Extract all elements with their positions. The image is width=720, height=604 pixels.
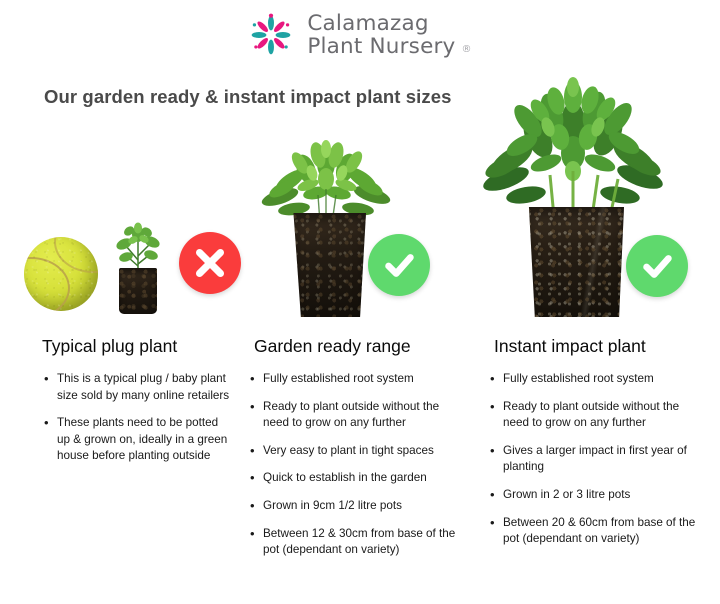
column-title-typical-plug-plant: Typical plug plant [42,336,177,357]
cross-badge-icon [179,232,241,294]
list-item: Ready to plant outside without the need … [490,399,708,432]
list-item: Fully established root system [250,371,464,388]
column-title-instant-impact-plant: Instant impact plant [494,336,646,357]
list-item: Very easy to plant in tight spaces [250,443,464,460]
check-badge-icon [626,235,688,297]
infographic-page: Calamazag Plant Nursery ® Our garden rea… [0,0,720,604]
artwork-typical-plug-plant [14,115,236,317]
feature-list-garden-ready-range: Fully established root system Ready to p… [250,371,464,570]
list-item: Between 12 & 30cm from base of the pot (… [250,526,464,559]
brand-name-line2: Plant Nursery [307,35,455,58]
brand-name-line1: Calamazag [307,12,471,35]
column-typical-plug-plant: Typical plug plant This is a typical plu… [14,115,236,317]
list-item: Between 20 & 60cm from base of the pot (… [490,515,708,548]
feature-list-typical-plug-plant: This is a typical plug / baby plant size… [44,371,234,476]
instant-impact-root-ball [526,207,624,317]
brand-logo: Calamazag Plant Nursery ® [0,12,720,58]
list-item: Ready to plant outside without the need … [250,399,464,432]
column-title-garden-ready-range: Garden ready range [254,336,411,357]
feature-list-instant-impact-plant: Fully established root system Ready to p… [490,371,708,559]
plug-plant-image [109,220,167,314]
list-item: This is a typical plug / baby plant size… [44,371,234,404]
registered-trademark-icon: ® [461,45,471,56]
list-item: Quick to establish in the garden [250,470,464,487]
list-item: Grown in 9cm 1/2 litre pots [250,498,464,515]
garden-ready-plant-image [260,135,392,317]
artwork-instant-impact-plant [474,115,708,317]
list-item: Gives a larger impact in first year of p… [490,443,708,476]
column-garden-ready-range: Garden ready range Fully established roo… [238,115,466,317]
flower-starburst-icon [248,12,294,58]
list-item: These plants need to be potted up & grow… [44,415,234,465]
column-instant-impact-plant: Instant impact plant Fully established r… [474,115,708,317]
list-item: Fully established root system [490,371,708,388]
list-item: Grown in 2 or 3 litre pots [490,487,708,504]
page-title: Our garden ready & instant impact plant … [44,86,452,108]
check-badge-icon [368,234,430,296]
plug-root-ball [119,268,157,314]
artwork-garden-ready-range [238,115,466,317]
garden-ready-root-ball [292,213,366,317]
tennis-ball-reference [24,237,98,311]
comparison-columns: Typical plug plant This is a typical plu… [0,115,720,585]
